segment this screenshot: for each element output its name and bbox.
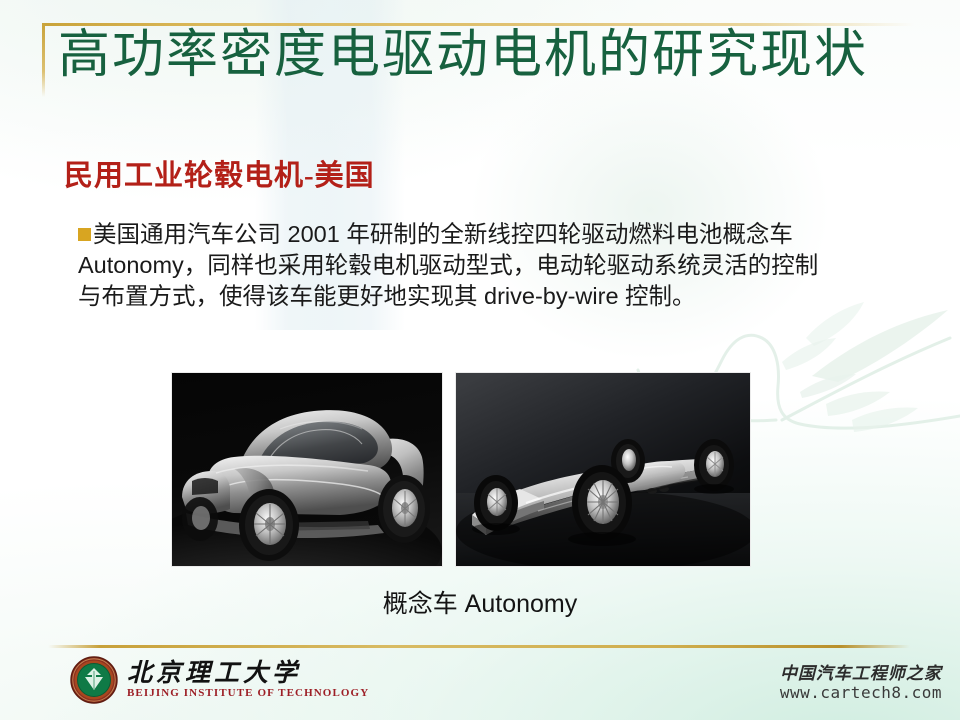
figure-autonomy-concept-body <box>172 373 442 566</box>
presentation-slide: 高功率密度电驱动电机的研究现状 民用工业轮毂电机-美国 美国通用汽车公司 200… <box>0 0 960 720</box>
bit-emblem-icon <box>70 656 118 704</box>
figure-autonomy-skateboard-chassis <box>456 373 750 566</box>
site-watermark: 中国汽车工程师之家 www.cartech8.com <box>780 664 942 703</box>
site-watermark-cn: 中国汽车工程师之家 <box>780 664 942 684</box>
body-paragraph-text: 美国通用汽车公司 2001 年研制的全新线控四轮驱动燃料电池概念车 Autono… <box>78 221 818 309</box>
footer-rule <box>48 645 910 648</box>
section-subheading: 民用工业轮毂电机-美国 <box>64 152 375 194</box>
figure-caption: 概念车 Autonomy <box>0 584 960 620</box>
page-title: 高功率密度电驱动电机的研究现状 <box>58 26 868 86</box>
background-soft-highlight <box>470 60 830 360</box>
footer-institution-brand: 北京理工大学 BEIJING INSTITUTE OF TECHNOLOGY <box>70 656 369 704</box>
institution-name-cn: 北京理工大学 <box>127 661 369 686</box>
site-watermark-url: www.cartech8.com <box>780 684 942 703</box>
title-rule-left <box>42 23 45 97</box>
figure-row <box>172 373 750 566</box>
body-paragraph-block: 美国通用汽车公司 2001 年研制的全新线控四轮驱动燃料电池概念车 Autono… <box>78 219 838 312</box>
square-bullet-icon <box>78 228 91 241</box>
institution-name-en: BEIJING INSTITUTE OF TECHNOLOGY <box>127 688 369 699</box>
